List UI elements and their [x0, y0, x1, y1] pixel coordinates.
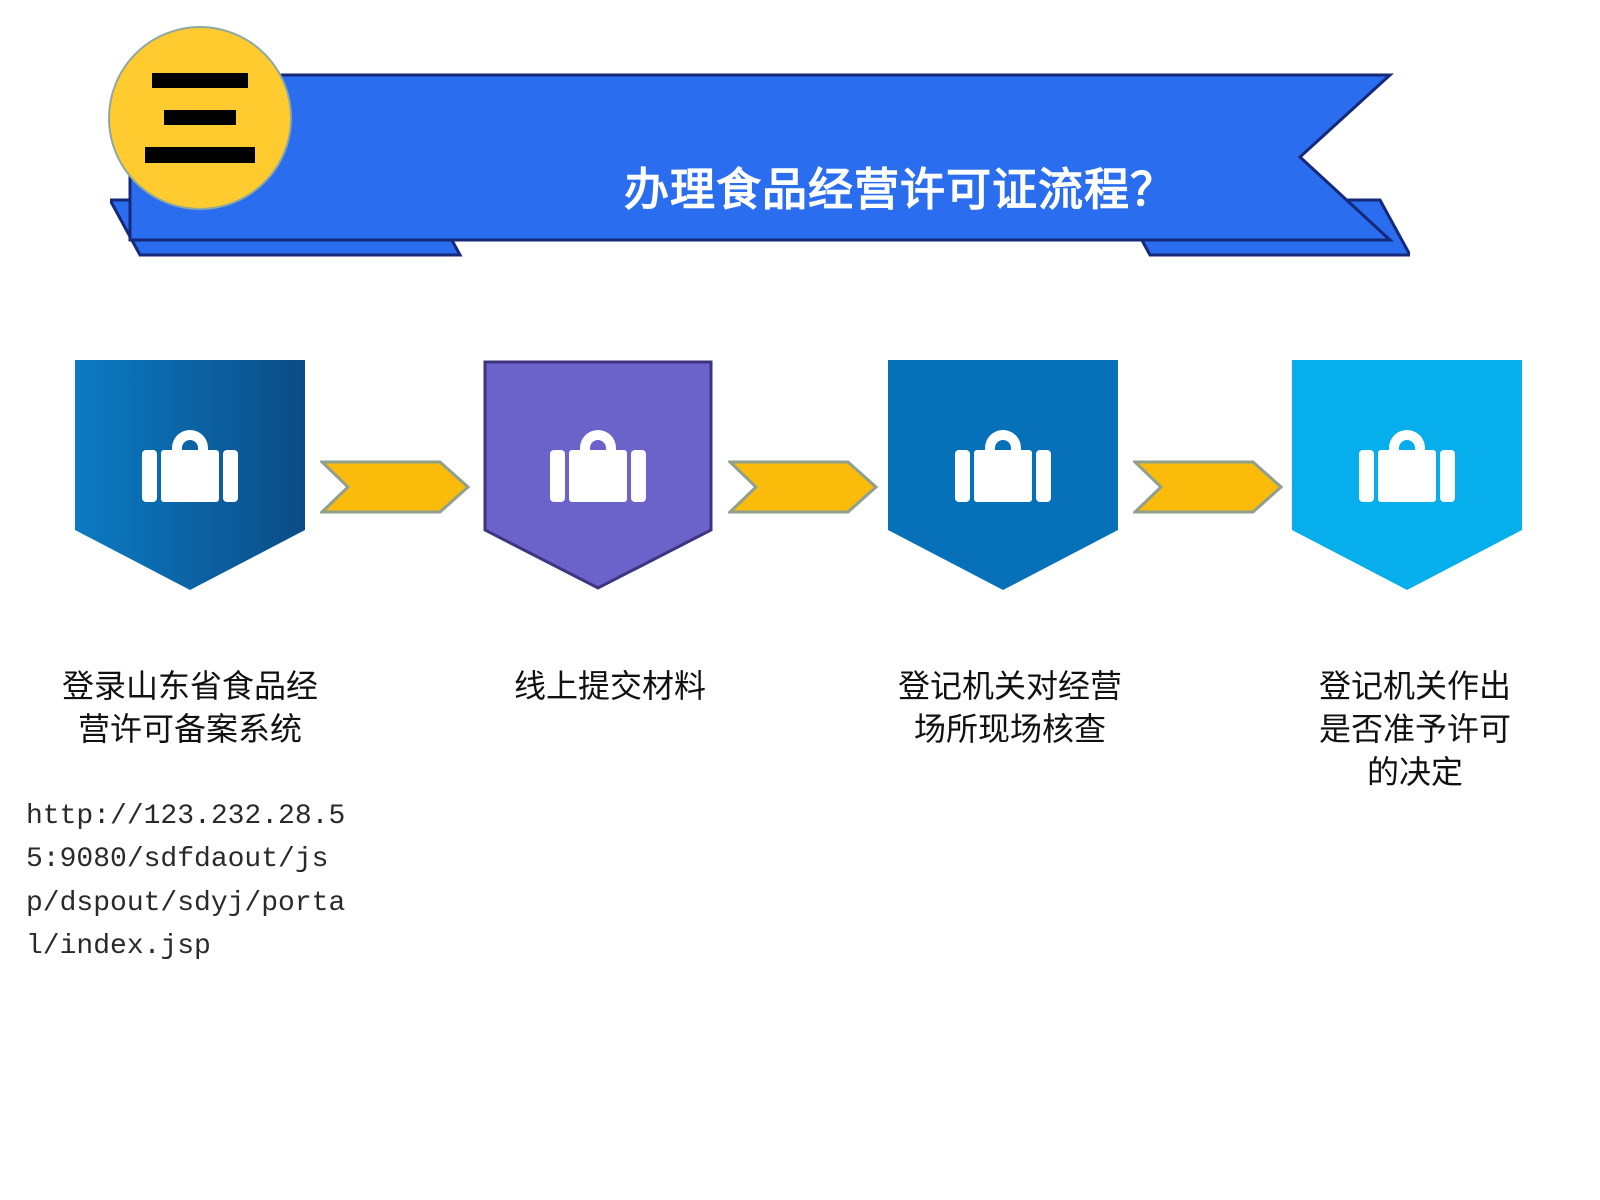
numeral-three-stroke-bottom	[145, 147, 255, 163]
pentagon-shape-3	[888, 360, 1118, 590]
flow-step-1-caption: 登录山东省食品经 营许可备案系统	[10, 665, 370, 751]
caption-line: 是否准予许可	[1235, 708, 1595, 751]
pentagon-shape-1	[75, 360, 305, 590]
flow-step-1[interactable]	[75, 360, 305, 590]
pentagon-shape-4	[1292, 360, 1522, 590]
process-flow	[0, 360, 1600, 610]
numeral-three-stroke-top	[152, 73, 248, 88]
caption-line: 登记机关对经营	[830, 665, 1190, 708]
flow-step-2-caption: 线上提交材料	[430, 665, 790, 708]
pentagon-shape-2	[483, 360, 713, 590]
caption-line: 登记机关作出	[1235, 665, 1595, 708]
caption-line: 的决定	[1235, 751, 1595, 794]
flow-step-3-caption: 登记机关对经营 场所现场核查	[830, 665, 1190, 751]
flow-arrow-1	[320, 458, 470, 516]
caption-line: 场所现场核查	[830, 708, 1190, 751]
flow-arrow-3	[1133, 458, 1283, 516]
caption-line: 登录山东省食品经	[10, 665, 370, 708]
flow-arrow-2	[728, 458, 878, 516]
title-banner: 办理食品经营许可证流程？	[110, 50, 1410, 260]
flow-step-3[interactable]	[888, 360, 1118, 590]
flow-step-4[interactable]	[1292, 360, 1522, 590]
flow-step-2[interactable]	[483, 360, 713, 590]
banner-ribbon-shape	[110, 50, 1410, 260]
flow-step-1-url[interactable]: http://123.232.28.55:9080/sdfdaout/jsp/d…	[26, 795, 356, 969]
caption-line: 线上提交材料	[430, 665, 790, 708]
caption-line: 营许可备案系统	[10, 708, 370, 751]
numeral-three-stroke-middle	[164, 110, 236, 125]
flow-step-4-caption: 登记机关作出 是否准予许可 的决定	[1235, 665, 1595, 795]
section-number-badge	[108, 26, 292, 210]
